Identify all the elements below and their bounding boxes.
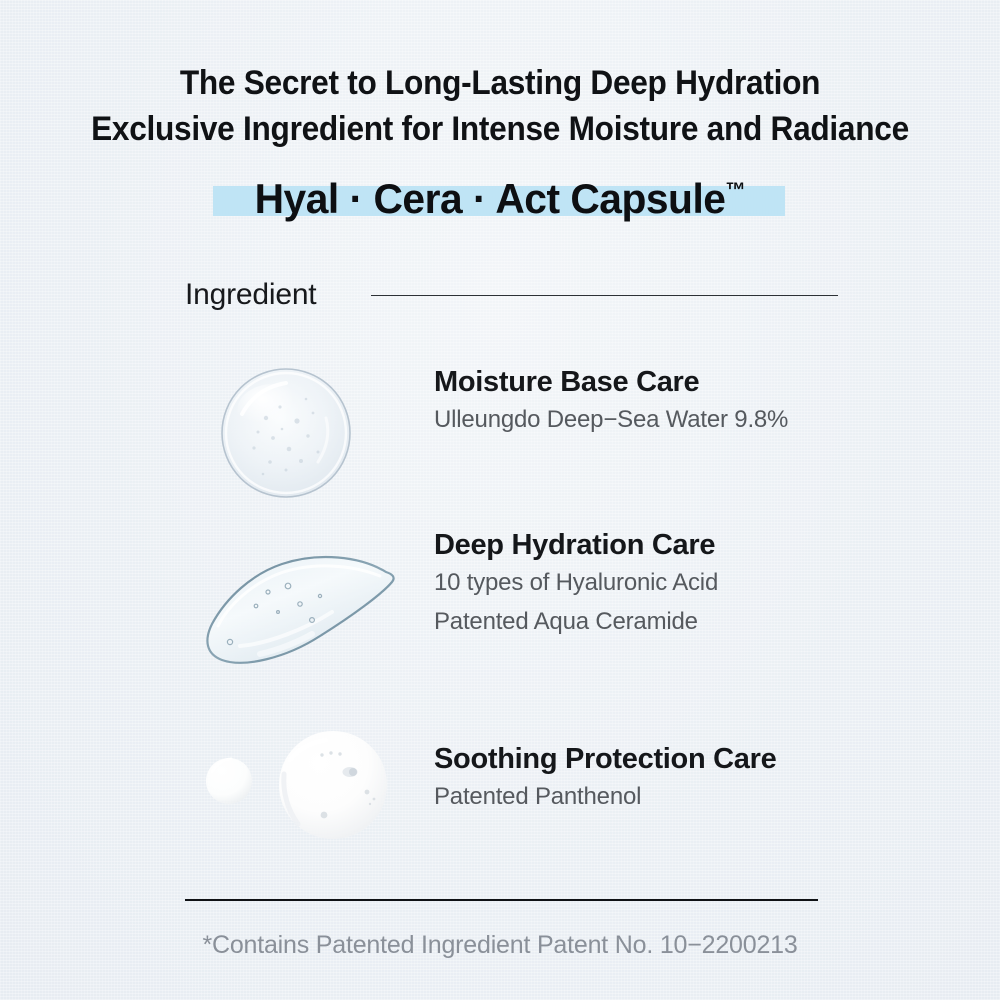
- ingredient-detail-line: Patented Aqua Ceramide: [434, 602, 718, 641]
- ingredient-item: Moisture Base Care Ulleungdo Deep−Sea Wa…: [434, 364, 788, 439]
- ingredient-detail-line: Patented Panthenol: [434, 777, 776, 816]
- ingredient-list: Moisture Base Care Ulleungdo Deep−Sea Wa…: [0, 0, 1000, 1000]
- ingredient-item: Deep Hydration Care 10 types of Hyaluron…: [434, 527, 718, 641]
- ingredient-title: Deep Hydration Care: [434, 527, 718, 563]
- ingredient-detail-line: 10 types of Hyaluronic Acid: [434, 563, 718, 602]
- infographic-page: The Secret to Long-Lasting Deep Hydratio…: [0, 0, 1000, 1000]
- ingredient-title: Moisture Base Care: [434, 364, 788, 400]
- patent-note: *Contains Patented Ingredient Patent No.…: [0, 928, 1000, 962]
- footer-divider: [185, 899, 818, 901]
- ingredient-detail-line: Ulleungdo Deep−Sea Water 9.8%: [434, 400, 788, 439]
- ingredient-item: Soothing Protection Care Patented Panthe…: [434, 741, 776, 816]
- ingredient-title: Soothing Protection Care: [434, 741, 776, 777]
